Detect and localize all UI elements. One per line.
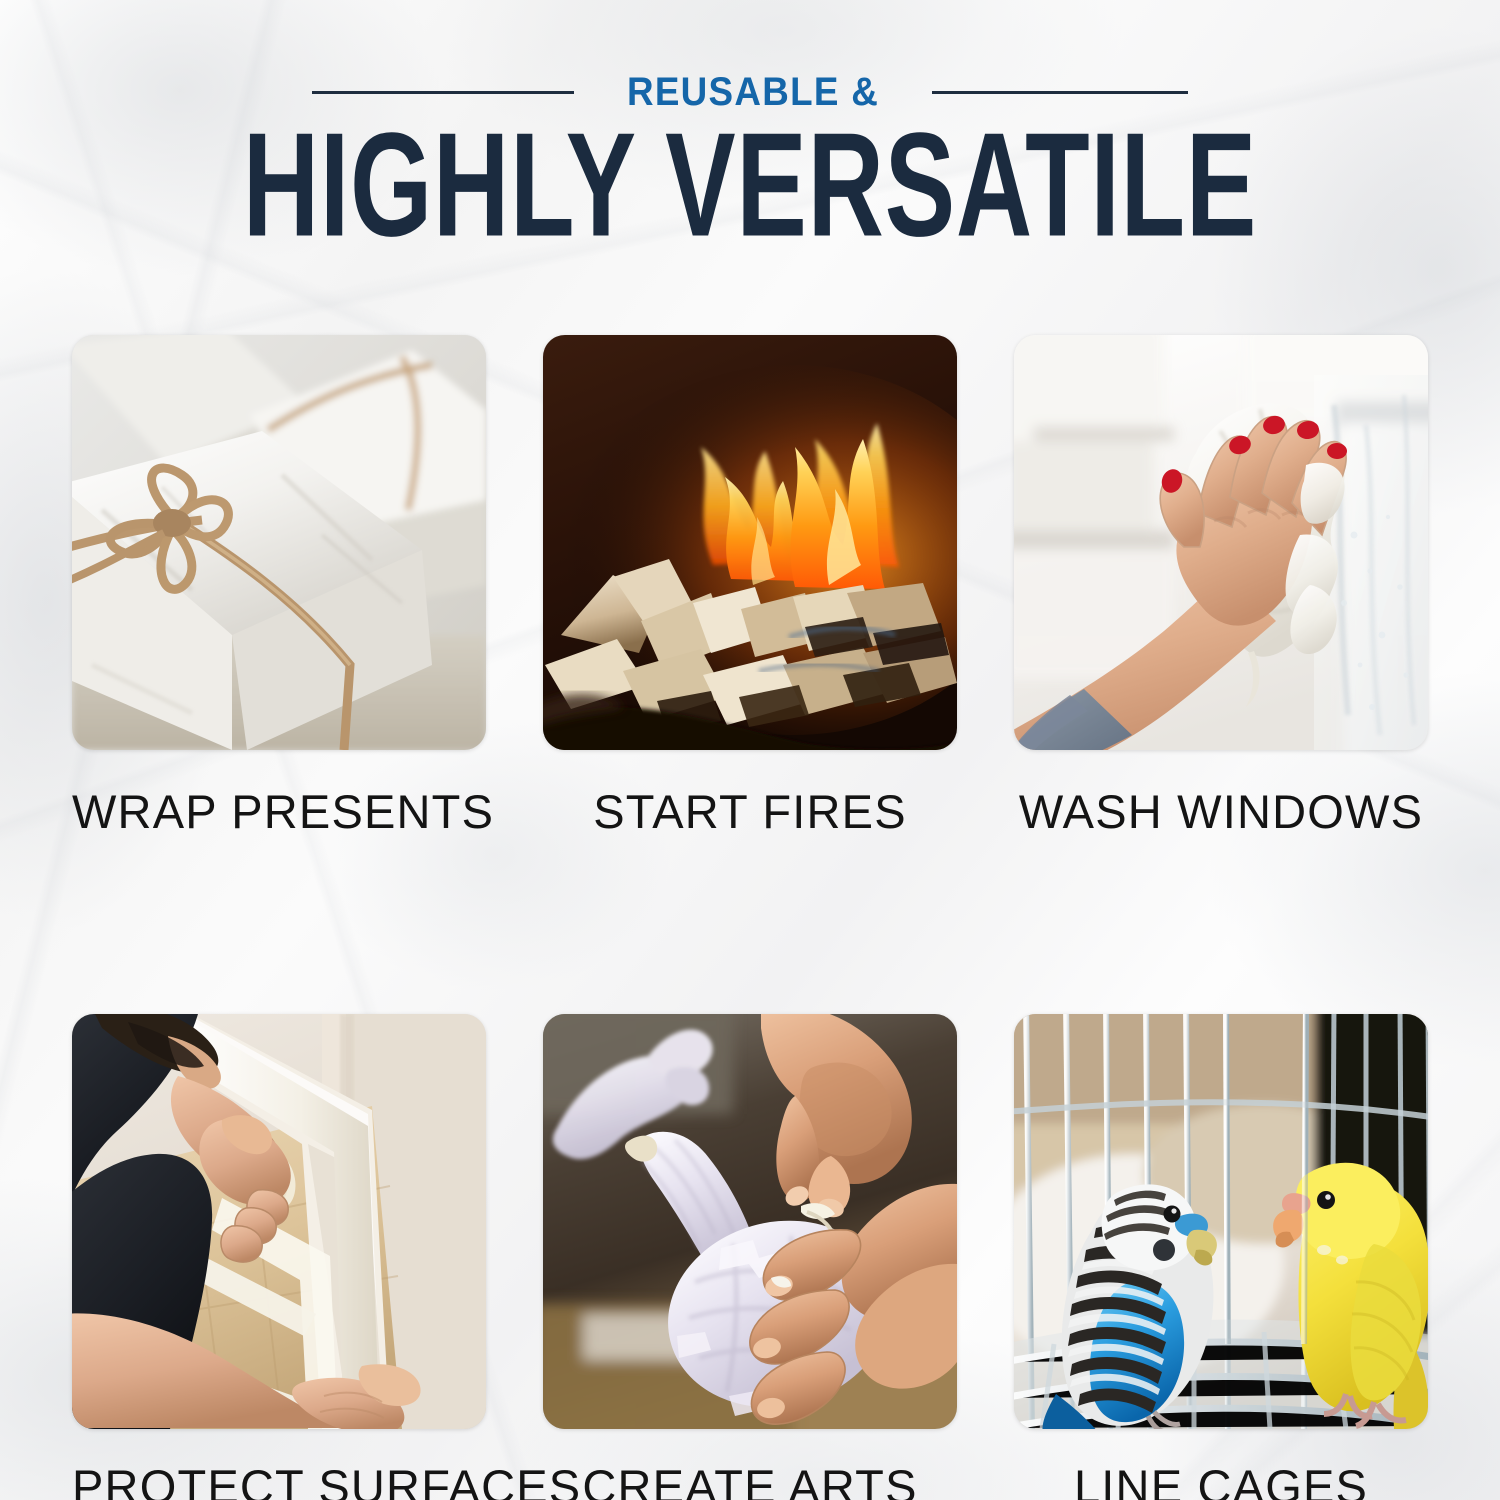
use-case-wrap-presents: WRAP PRESENTS (72, 335, 486, 835)
caption-line-cages: LINE CAGES (1014, 1463, 1428, 1500)
use-case-wash-windows: WASH WINDOWS (1014, 335, 1428, 835)
caption-wrap-presents: WRAP PRESENTS (72, 788, 486, 835)
divider-line-right (932, 91, 1188, 94)
image-start-fires (543, 335, 957, 750)
use-case-protect-surfaces: PROTECT SURFACES (72, 1014, 486, 1500)
image-protect-surfaces (72, 1014, 486, 1429)
use-case-create-arts: CREATE ARTS (543, 1014, 957, 1500)
image-wash-windows (1014, 335, 1428, 750)
page-title: HIGHLY VERSATILE (150, 110, 1350, 261)
caption-protect-surfaces: PROTECT SURFACES (72, 1463, 486, 1500)
caption-start-fires: START FIRES (543, 788, 957, 835)
image-create-arts (543, 1014, 957, 1429)
caption-wash-windows: WASH WINDOWS (1014, 788, 1428, 835)
use-case-start-fires: START FIRES (543, 335, 957, 835)
infographic-page: REUSABLE & HIGHLY VERSATILE (0, 0, 1500, 1500)
use-case-line-cages: LINE CAGES (1014, 1014, 1428, 1500)
image-line-cages (1014, 1014, 1428, 1429)
use-case-grid: WRAP PRESENTS (72, 335, 1428, 1500)
image-wrap-presents (72, 335, 486, 750)
caption-create-arts: CREATE ARTS (543, 1463, 957, 1500)
divider-line-left (312, 91, 574, 94)
